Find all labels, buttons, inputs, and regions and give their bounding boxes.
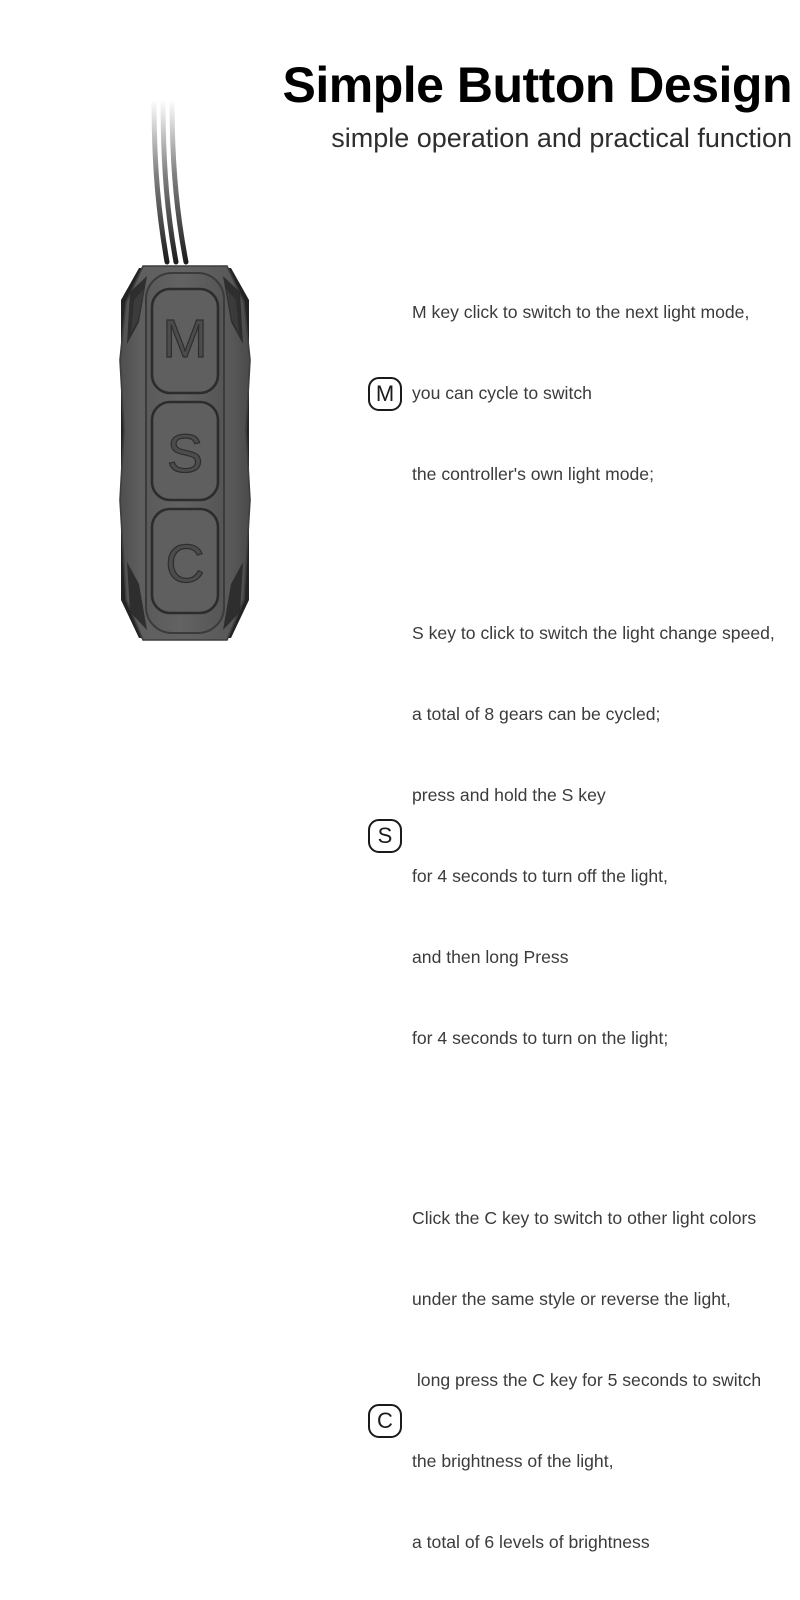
instruction-line: for 4 seconds to turn off the light, xyxy=(412,863,800,890)
instruction-line: under the same style or reverse the ligh… xyxy=(412,1286,800,1313)
device-illustration: M S C xyxy=(35,0,335,800)
instruction-line: the brightness of the light, xyxy=(412,1448,800,1475)
instruction-line: the controller's own light mode; xyxy=(412,461,800,488)
instruction-block-s: S S key to click to switch the light cha… xyxy=(368,566,800,1106)
device-button-c-label: C xyxy=(166,534,205,594)
controller-graphic: M S C xyxy=(35,0,335,800)
instruction-block-m: M M key click to switch to the next ligh… xyxy=(368,245,800,542)
instruction-line: press and hold the S key xyxy=(412,782,800,809)
instruction-line: for 4 seconds to turn on the light; xyxy=(412,1025,800,1052)
device-button-c[interactable]: C xyxy=(152,509,218,613)
instruction-text-s: S key to click to switch the light chang… xyxy=(412,566,800,1106)
device-button-m-label: M xyxy=(163,309,208,369)
device-button-m[interactable]: M xyxy=(152,289,218,393)
device-button-s[interactable]: S xyxy=(152,402,218,500)
instruction-line: a total of 6 levels of brightness xyxy=(412,1529,800,1556)
cable-bottom xyxy=(172,640,174,780)
key-badge-s-icon: S xyxy=(368,819,402,853)
cable-top xyxy=(154,100,186,262)
instruction-block-c: C Click the C key to switch to other lig… xyxy=(368,1151,800,1600)
key-badge-c-icon: C xyxy=(368,1404,402,1438)
instructions-panel: M M key click to switch to the next ligh… xyxy=(368,245,800,1600)
instruction-line: Click the C key to switch to other light… xyxy=(412,1205,800,1232)
instruction-text-c: Click the C key to switch to other light… xyxy=(412,1151,800,1600)
instruction-line: a total of 8 gears can be cycled; xyxy=(412,701,800,728)
device-button-s-label: S xyxy=(167,424,203,484)
instruction-line: S key to click to switch the light chang… xyxy=(412,620,800,647)
instruction-text-m: M key click to switch to the next light … xyxy=(412,245,800,542)
instruction-line: and then long Press xyxy=(412,944,800,971)
key-badge-m-icon: M xyxy=(368,377,402,411)
instruction-line: long press the C key for 5 seconds to sw… xyxy=(412,1367,800,1394)
instruction-line: you can cycle to switch xyxy=(412,380,800,407)
instruction-line: M key click to switch to the next light … xyxy=(412,299,800,326)
